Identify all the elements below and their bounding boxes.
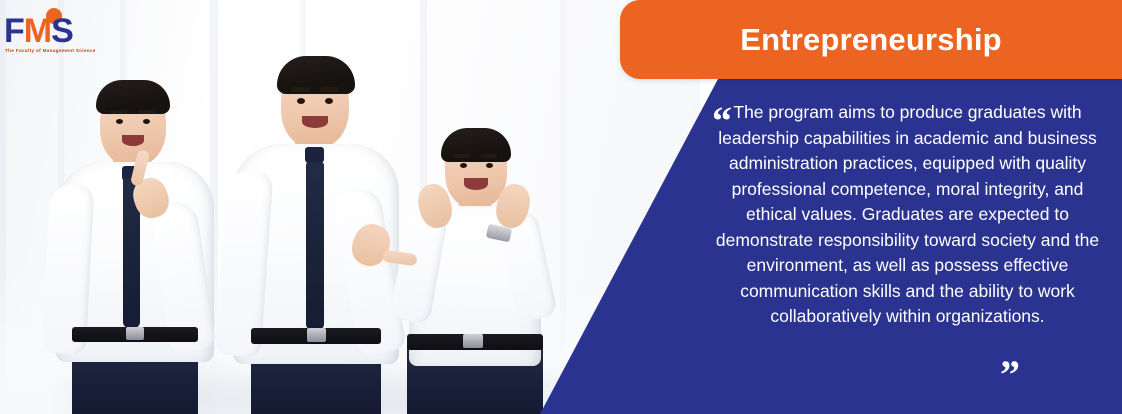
student-right-eye: [460, 163, 467, 168]
student-center-smile: [302, 116, 328, 128]
student-center-eye: [325, 98, 333, 104]
page-title: Entrepreneurship: [740, 22, 1002, 58]
student-right-hair: [441, 128, 511, 162]
student-left-smile: [122, 135, 144, 146]
student-center-eyebrow: [320, 87, 339, 92]
student-right-eyebrow: [454, 154, 471, 158]
student-left-eyebrow: [110, 110, 128, 114]
student-right-eyebrow: [480, 154, 497, 158]
student-left-eye: [116, 119, 123, 124]
program-banner: “ The program aims to produce graduates …: [0, 0, 1122, 414]
student-left-eye: [143, 119, 150, 124]
logo-letter-m: M: [24, 12, 51, 50]
fms-logo[interactable]: FMS The Faculty of Management Science: [4, 6, 96, 58]
student-right-belt-buckle: [463, 334, 483, 348]
description-text-wrap: The program aims to produce graduates wi…: [715, 100, 1100, 330]
quote-open-icon: “: [712, 101, 732, 141]
student-center-hair: [277, 56, 355, 94]
logo-tagline: The Faculty of Management Science: [5, 48, 96, 53]
student-center-eyebrow: [291, 87, 310, 92]
student-center-tie: [306, 162, 324, 330]
student-left-belt-buckle: [126, 327, 144, 340]
student-right-smile: [464, 178, 488, 190]
student-left-eyebrow: [138, 110, 156, 114]
student-center-eye: [297, 98, 305, 104]
quote-close-icon: ”: [1000, 355, 1020, 395]
student-center-belt-buckle: [307, 328, 326, 342]
logo-letters: FMS: [4, 14, 73, 48]
logo-letter-f: F: [4, 12, 24, 50]
logo-letter-s: S: [51, 12, 73, 50]
student-right-eye: [486, 163, 493, 168]
student-left-hair: [96, 80, 170, 114]
description-text: The program aims to produce graduates wi…: [715, 100, 1100, 330]
title-banner: Entrepreneurship: [620, 0, 1122, 79]
